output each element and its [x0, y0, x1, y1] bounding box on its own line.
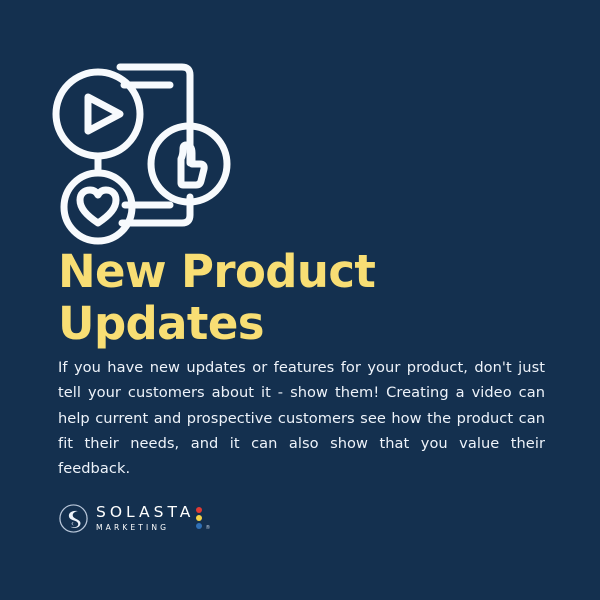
dot-red [196, 507, 202, 513]
brand-wordmark: SOLASTA MARKETING [96, 503, 194, 534]
brand-dot-stack [196, 502, 202, 534]
solasta-swirl-s-mark-icon [58, 503, 89, 534]
social-post-canvas: New Product Updates If you have new upda… [0, 0, 600, 600]
registered-trademark-mark: ® [205, 525, 210, 531]
video-engagement-illustration [50, 45, 240, 245]
brand-logo: SOLASTA MARKETING ® [58, 501, 210, 535]
page-title: New Product Updates [58, 246, 558, 350]
dot-yellow [196, 515, 202, 521]
body-paragraph: If you have new updates or features for … [58, 355, 545, 481]
play-circle-icon [56, 72, 140, 156]
brand-name: SOLASTA [96, 504, 194, 521]
heart-circle-icon [64, 173, 132, 241]
dot-blue [196, 523, 202, 529]
brand-tagline: MARKETING [96, 522, 194, 533]
